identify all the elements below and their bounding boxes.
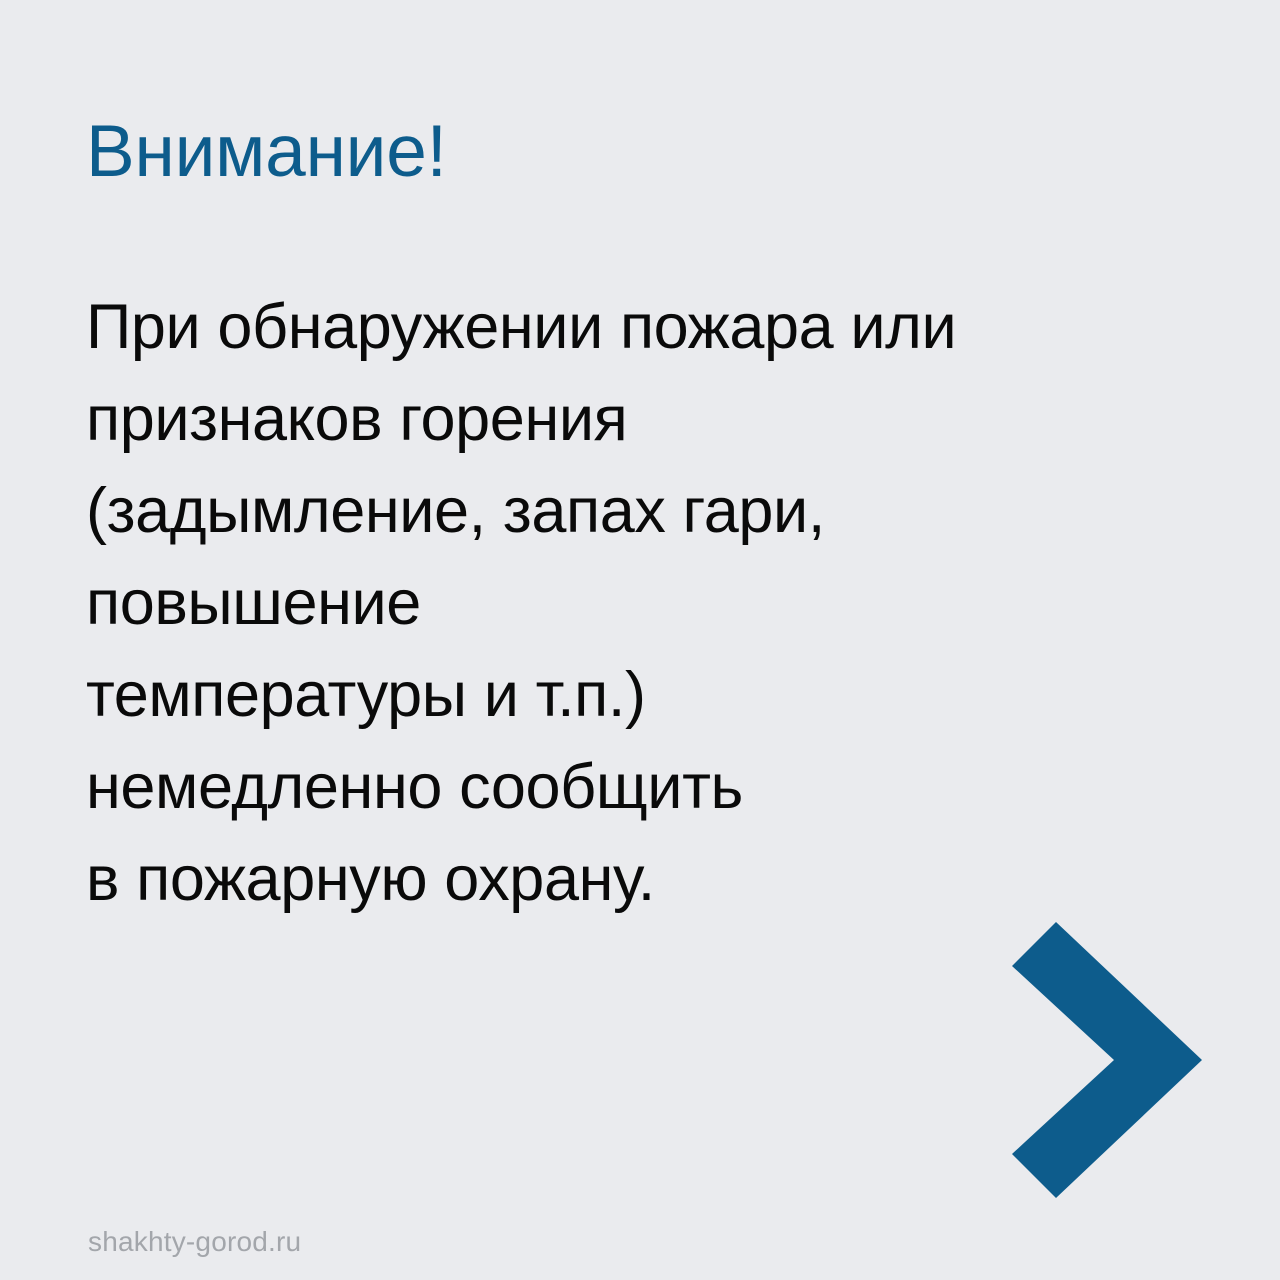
site-watermark: shakhty-gorod.ru	[88, 1227, 301, 1258]
page-title: Внимание!	[86, 111, 447, 193]
chevron-right-icon[interactable]	[1012, 922, 1202, 1198]
body-text-block: При обнаружении пожара или признаков гор…	[86, 281, 1216, 925]
body-line: (задымление, запах гари,	[86, 465, 1216, 557]
body-line: При обнаружении пожара или	[86, 281, 1216, 373]
body-line: в пожарную охрану.	[86, 833, 1216, 925]
body-line: температуры и т.п.)	[86, 649, 1216, 741]
body-line: немедленно сообщить	[86, 741, 1216, 833]
informational-slide: Внимание! При обнаружении пожара или при…	[0, 0, 1280, 1280]
body-line: повышение	[86, 557, 1216, 649]
body-line: признаков горения	[86, 373, 1216, 465]
